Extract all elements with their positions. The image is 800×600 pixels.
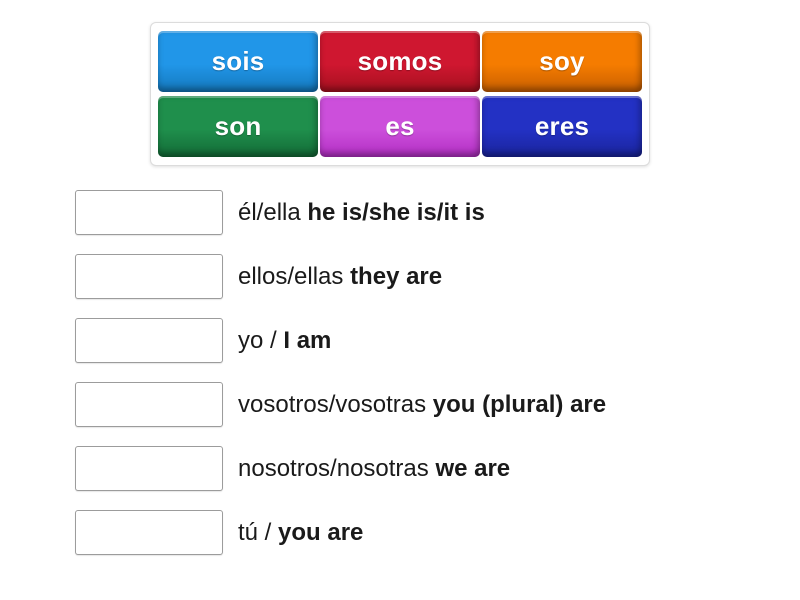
english-translation: we are: [435, 455, 510, 482]
word-tile-label: eres: [535, 111, 589, 142]
word-tile-es[interactable]: es: [320, 96, 480, 157]
spanish-pronoun: yo /: [238, 327, 283, 354]
word-tile-label: son: [215, 111, 262, 142]
drop-zone-1[interactable]: [75, 190, 223, 235]
word-tile-label: es: [385, 111, 414, 142]
answer-list: él/ella he is/she is/it is ellos/ellas t…: [75, 190, 775, 574]
english-translation: he is/she is/it is: [307, 199, 484, 226]
english-translation: you (plural) are: [433, 391, 606, 418]
drop-zone-2[interactable]: [75, 254, 223, 299]
word-tile-soy[interactable]: soy: [482, 31, 642, 92]
word-bank-row: sois somos soy: [158, 31, 642, 92]
answer-row: ellos/ellas they are: [75, 254, 775, 299]
spanish-pronoun: ellos/ellas: [238, 263, 350, 290]
answer-row: vosotros/vosotras you (plural) are: [75, 382, 775, 427]
word-tile-son[interactable]: son: [158, 96, 318, 157]
answer-label-6: tú / you are: [238, 519, 363, 547]
drop-zone-4[interactable]: [75, 382, 223, 427]
answer-label-4: vosotros/vosotras you (plural) are: [238, 391, 606, 419]
word-tile-somos[interactable]: somos: [320, 31, 480, 92]
drop-zone-6[interactable]: [75, 510, 223, 555]
english-translation: they are: [350, 263, 442, 290]
word-tile-label: sois: [212, 46, 265, 77]
english-translation: you are: [278, 519, 363, 546]
answer-label-1: él/ella he is/she is/it is: [238, 199, 485, 227]
spanish-pronoun: él/ella: [238, 199, 307, 226]
drop-zone-5[interactable]: [75, 446, 223, 491]
word-bank-container: sois somos soy son es eres: [150, 22, 650, 166]
word-tile-label: somos: [358, 46, 443, 77]
answer-row: yo / I am: [75, 318, 775, 363]
word-tile-eres[interactable]: eres: [482, 96, 642, 157]
word-tile-label: soy: [539, 46, 584, 77]
drop-zone-3[interactable]: [75, 318, 223, 363]
spanish-pronoun: vosotros/vosotras: [238, 391, 433, 418]
answer-row: él/ella he is/she is/it is: [75, 190, 775, 235]
answer-row: nosotros/nosotras we are: [75, 446, 775, 491]
word-bank-row: son es eres: [158, 96, 642, 157]
answer-label-2: ellos/ellas they are: [238, 263, 442, 291]
english-translation: I am: [283, 327, 331, 354]
answer-label-3: yo / I am: [238, 327, 331, 355]
answer-label-5: nosotros/nosotras we are: [238, 455, 510, 483]
spanish-pronoun: tú /: [238, 519, 278, 546]
answer-row: tú / you are: [75, 510, 775, 555]
spanish-pronoun: nosotros/nosotras: [238, 455, 435, 482]
word-tile-sois[interactable]: sois: [158, 31, 318, 92]
